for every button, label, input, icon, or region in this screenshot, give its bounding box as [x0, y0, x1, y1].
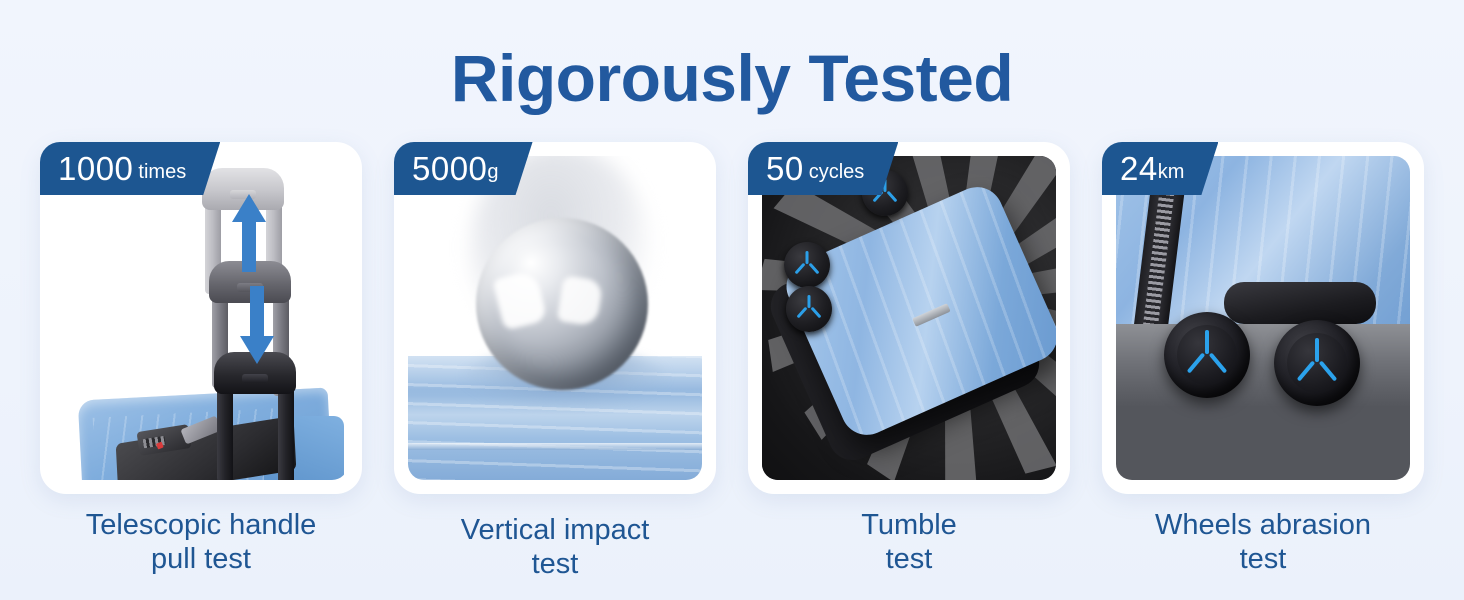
badge-value: 24	[1120, 152, 1158, 185]
caption-line-1: Vertical impact	[385, 513, 725, 547]
rigorously-tested-banner: Rigorously Tested	[0, 0, 1464, 600]
test-cards-row: 1000 times Telescopic handle pull test	[0, 142, 1464, 581]
badge-value: 1000	[58, 152, 133, 185]
caption-line-1: Wheels abrasion	[1093, 508, 1433, 542]
arrow-up-icon	[230, 192, 268, 274]
badge-unit: times	[138, 162, 186, 182]
card-frame: 5000 g	[394, 142, 716, 494]
card-caption-vertical-impact: Vertical impact test	[385, 513, 725, 581]
test-card-telescopic-handle[interactable]: 1000 times Telescopic handle pull test	[35, 142, 367, 581]
card-image-vertical-impact	[408, 156, 702, 480]
card-image-tumble	[762, 156, 1056, 480]
spinner-wheel	[1274, 320, 1360, 406]
caption-line-2: test	[1093, 542, 1433, 576]
badge-vertical-impact: 5000 g	[394, 142, 533, 195]
card-caption-tumble: Tumble test	[739, 508, 1079, 576]
test-card-tumble[interactable]: 50 cycles Tumble test	[743, 142, 1075, 581]
test-card-wheels-abrasion[interactable]: 24 km Wheels abrasion test	[1097, 142, 1429, 581]
badge-unit: km	[1158, 162, 1185, 182]
card-caption-telescopic-handle: Telescopic handle pull test	[31, 508, 371, 576]
handle-stage3-leg-left	[217, 386, 233, 480]
card-caption-wheels-abrasion: Wheels abrasion test	[1093, 508, 1433, 576]
caption-line-1: Telescopic handle	[31, 508, 371, 542]
card-image-telescopic-handle	[54, 156, 348, 480]
card-frame: 1000 times	[40, 142, 362, 494]
suitcase-seam	[408, 443, 702, 450]
steel-ball-shape	[476, 218, 648, 390]
caption-line-2: test	[385, 547, 725, 581]
badge-tumble: 50 cycles	[748, 142, 898, 195]
badge-wheels-abrasion: 24 km	[1102, 142, 1218, 195]
caption-line-1: Tumble	[739, 508, 1079, 542]
spinner-wheel	[784, 242, 830, 288]
handle-stage3-leg-right	[278, 386, 294, 480]
spinner-wheel	[1164, 312, 1250, 398]
suitcase-foot-shape	[1224, 282, 1376, 324]
spinner-wheel	[786, 286, 832, 332]
caption-line-2: test	[739, 542, 1079, 576]
card-frame: 24 km	[1102, 142, 1424, 494]
page-title: Rigorously Tested	[0, 44, 1464, 113]
badge-value: 5000	[412, 152, 487, 185]
badge-unit: g	[487, 162, 498, 182]
badge-unit: cycles	[809, 162, 865, 182]
card-image-wheels-abrasion	[1116, 156, 1410, 480]
arrow-down-icon	[238, 284, 276, 366]
test-card-vertical-impact[interactable]: 5000 g Vertical impact test	[389, 142, 721, 581]
badge-telescopic-handle: 1000 times	[40, 142, 220, 195]
card-frame: 50 cycles	[748, 142, 1070, 494]
caption-line-2: pull test	[31, 542, 371, 576]
badge-value: 50	[766, 152, 804, 185]
